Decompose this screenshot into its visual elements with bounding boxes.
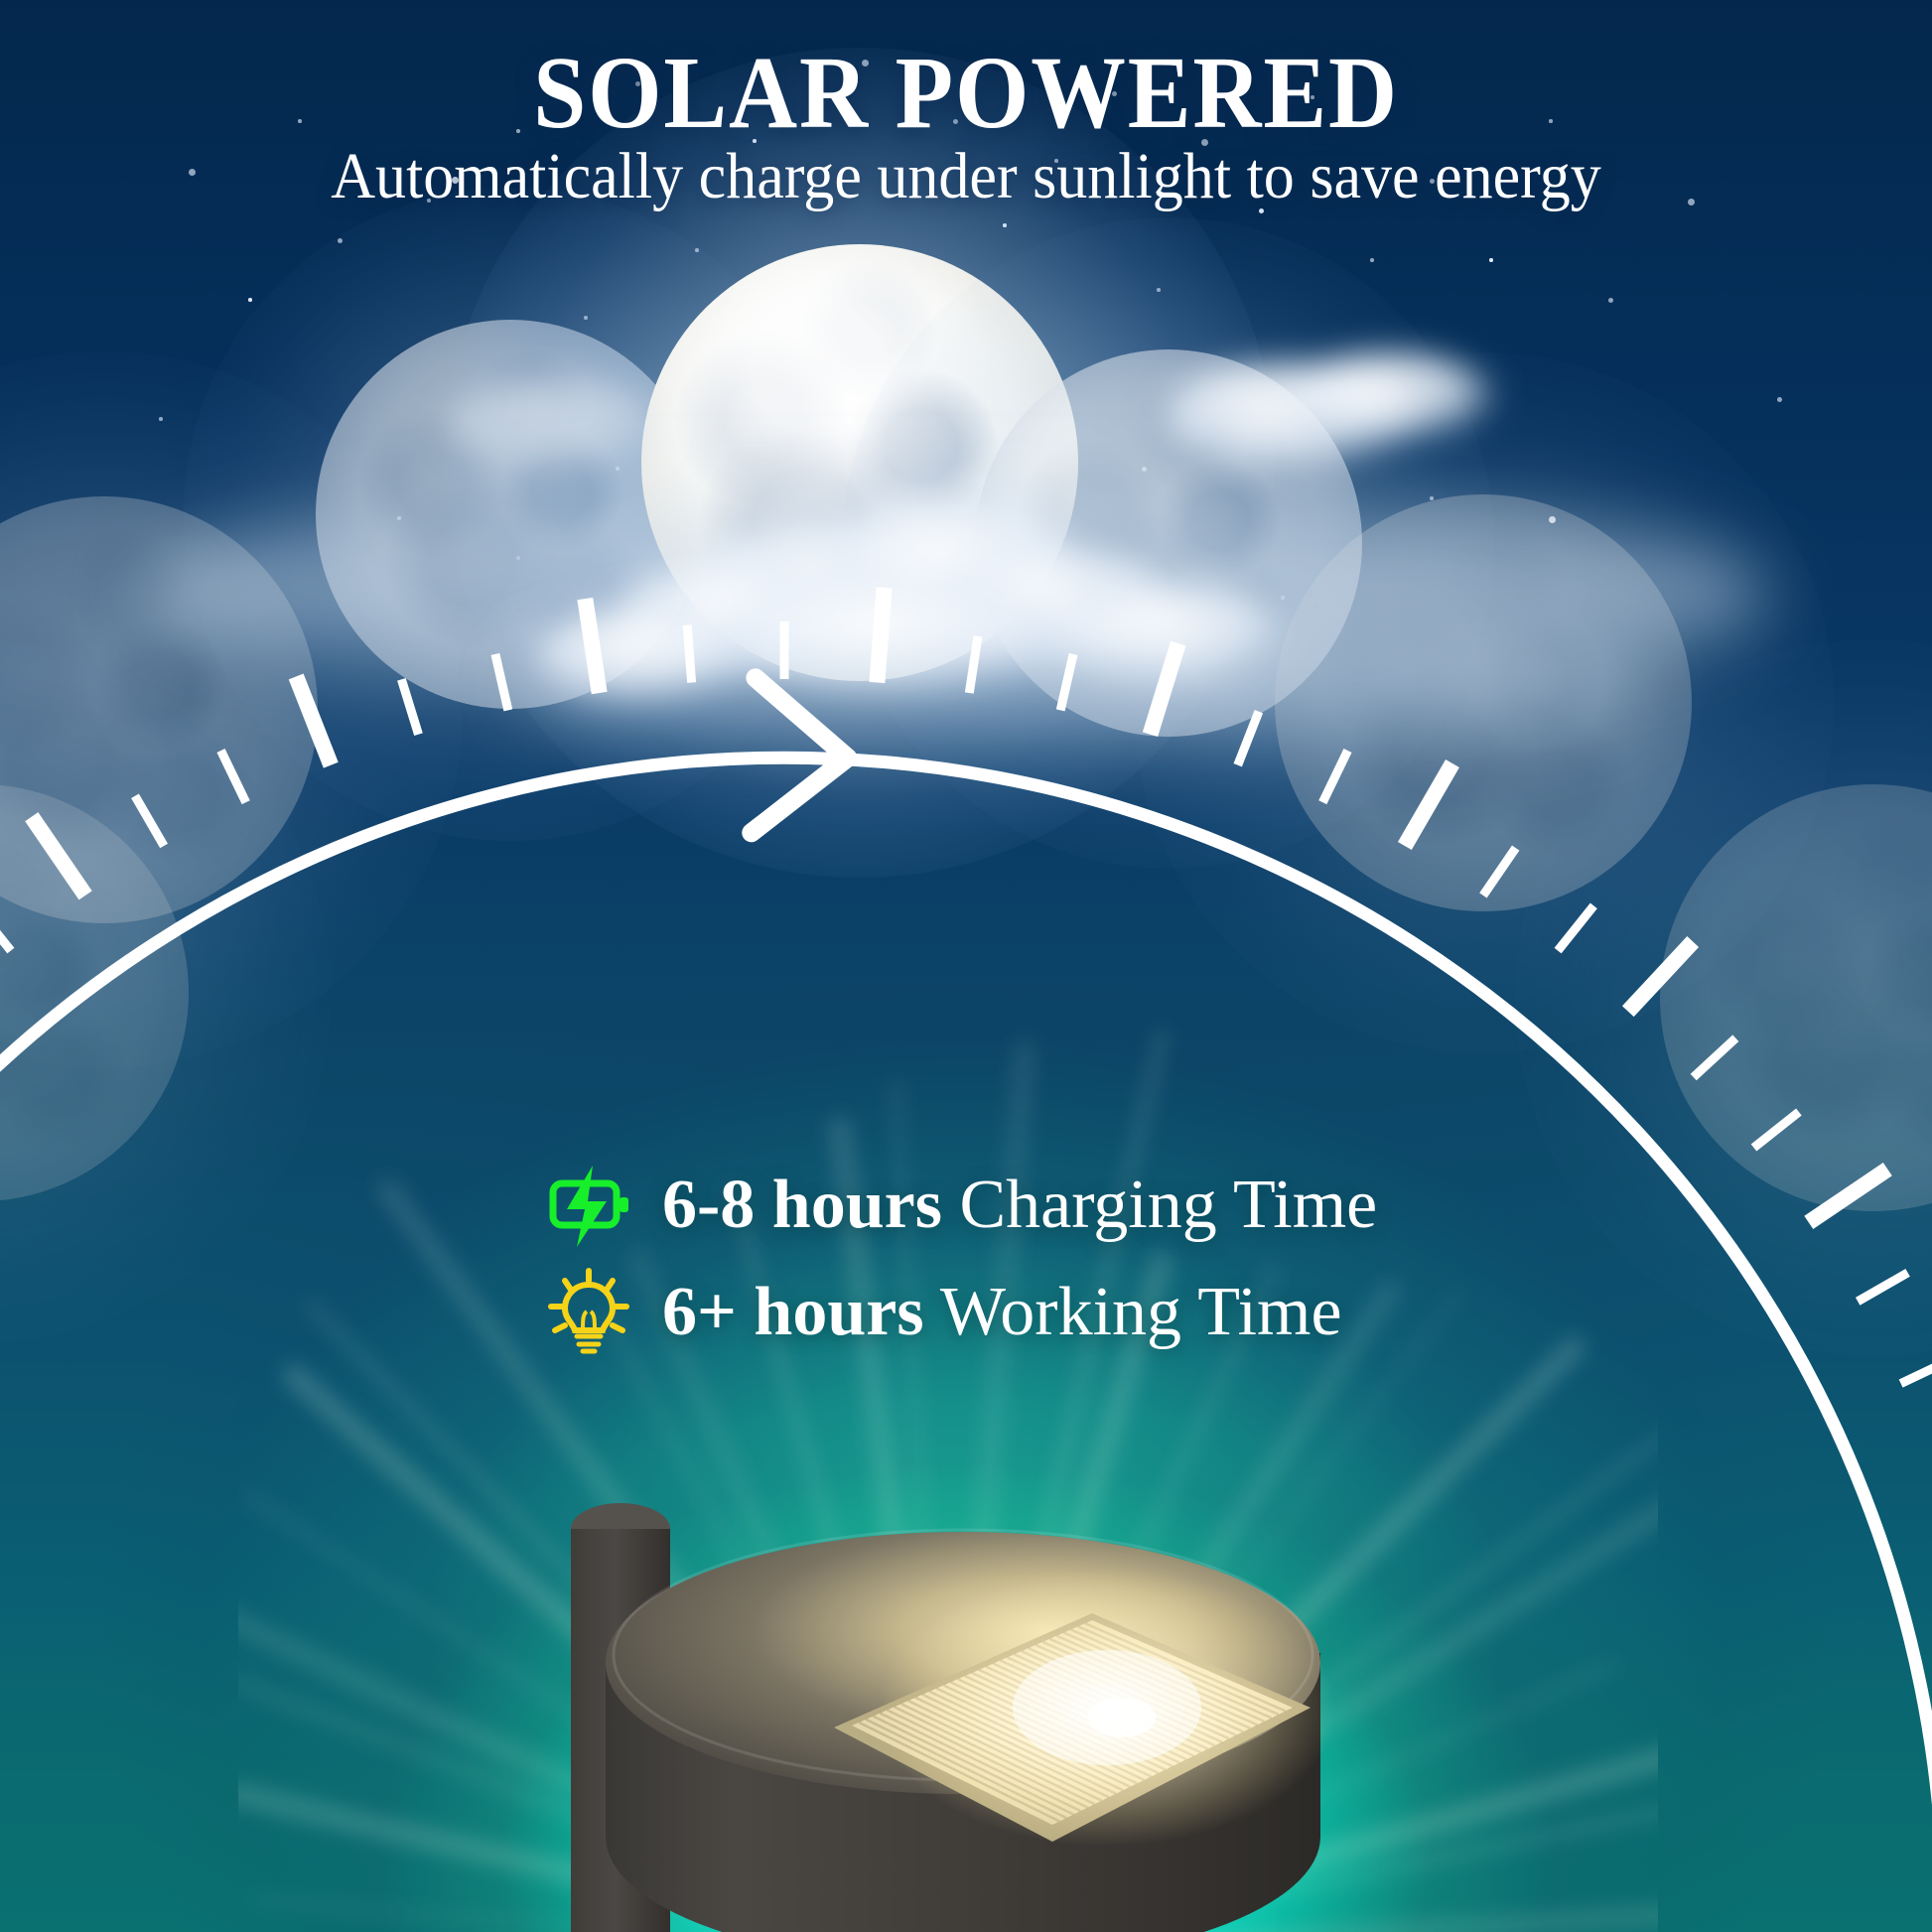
gauge-tick (1858, 1273, 1907, 1302)
gauge-tick (1809, 1170, 1888, 1223)
gauge-tick (585, 599, 599, 693)
gauge-tick (221, 751, 246, 802)
gauge-tick (135, 796, 164, 846)
gauge-tick (1901, 1359, 1932, 1384)
gauge-tick (1322, 751, 1347, 802)
feature-row-charging: 6-8 hours Charging Time (541, 1152, 1377, 1259)
feature-row-working: 6+ hours Working Time (541, 1259, 1377, 1366)
feature-label-charging: Charging Time (959, 1167, 1377, 1243)
feature-list: 6-8 hours Charging Time (541, 1152, 1377, 1366)
gauge-tick (1694, 1038, 1736, 1077)
feature-value-working: 6+ hours (662, 1274, 924, 1350)
gauge-tick (1558, 905, 1593, 950)
solar-path-light (536, 1410, 1360, 1932)
gauge-tick (401, 679, 418, 734)
gauge-tick (1060, 654, 1073, 711)
gauge-tick (1405, 763, 1452, 846)
gauge-tick (1238, 712, 1259, 765)
gauge-tick (0, 905, 11, 950)
gauge-tick (32, 817, 85, 896)
gauge-tick (1483, 848, 1516, 896)
gauge-tick (1151, 643, 1178, 735)
feature-text-charging: 6-8 hours Charging Time (662, 1166, 1377, 1245)
page-title: SOLAR POWERED (77, 34, 1855, 152)
lightbulb-icon (541, 1265, 636, 1360)
page-subtitle: Automatically charge under sunlight to s… (58, 139, 1873, 214)
infographic-canvas: SOLAR POWERED Automatically charge under… (0, 0, 1932, 1932)
gauge-tick (687, 625, 691, 683)
feature-text-working: 6+ hours Working Time (662, 1273, 1342, 1352)
gauge-tick (969, 636, 978, 693)
feature-label-working: Working Time (940, 1274, 1342, 1350)
gauge-tick (1754, 1112, 1799, 1148)
feature-value-charging: 6-8 hours (662, 1167, 942, 1243)
gauge-tick (495, 654, 508, 711)
gauge-tick (877, 588, 884, 683)
gauge-tick (296, 676, 331, 764)
battery-charging-icon (541, 1158, 636, 1253)
